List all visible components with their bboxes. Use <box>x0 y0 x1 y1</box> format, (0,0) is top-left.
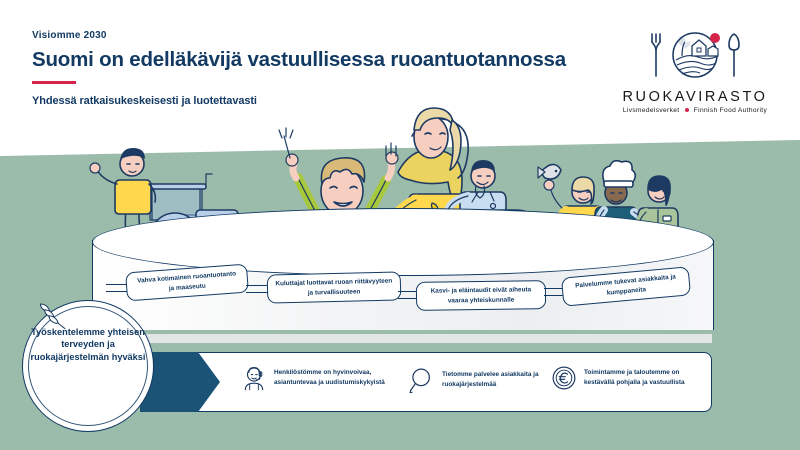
enabler-item-2[interactable]: Tietomme palvelee asiakkaita ja ruokajär… <box>409 367 545 393</box>
infographic-canvas: Visiomme 2030 Suomi on edelläkävijä vast… <box>0 0 800 450</box>
pill-connector-left-b <box>106 291 128 292</box>
bar-top-strip <box>140 334 712 343</box>
magnifier-icon <box>409 367 435 393</box>
mission-circle-text: Työskentelemme yhteisen terveyden ja ruo… <box>30 326 146 363</box>
pillar-callout-3[interactable]: Kasvi- ja eläintaudit eivät aiheuta vaar… <box>416 280 546 311</box>
pill-connector-left-a <box>106 284 128 285</box>
podium-top <box>92 208 714 276</box>
person-headset-icon <box>241 365 267 391</box>
enabler-item-1[interactable]: Henkilöstömme on hyvinvoivaa, asiantunte… <box>241 365 391 391</box>
enabler-text-2: Tietomme palvelee asiakkaita ja ruokajär… <box>442 370 545 390</box>
eyebrow-label: Visiomme 2030 <box>32 30 592 41</box>
enabler-item-3[interactable]: Toimintamme ja taloutemme on kestävällä … <box>551 365 707 391</box>
enabler-text-1: Henkilöstömme on hyvinvoivaa, asiantunte… <box>274 368 391 388</box>
pillar-callout-2[interactable]: Kuluttajat luottavat ruoan riittävyyteen… <box>267 271 402 303</box>
enabler-text-3: Toimintamme ja taloutemme on kestävällä … <box>584 368 707 388</box>
euro-coin-icon <box>551 365 577 391</box>
